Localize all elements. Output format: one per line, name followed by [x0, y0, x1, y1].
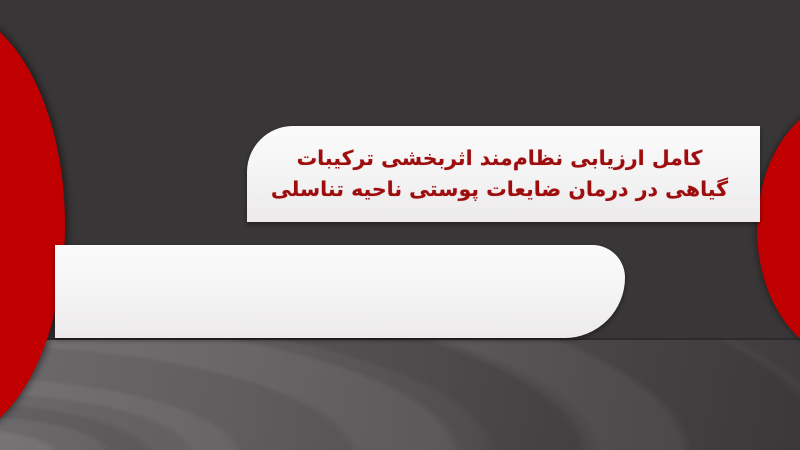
slide-title: کامل ارزیابی نظام‌مند اثربخشی ترکیبات گی… — [247, 143, 760, 205]
slide-subtitle — [55, 245, 625, 274]
presentation-slide: کامل ارزیابی نظام‌مند اثربخشی ترکیبات گی… — [0, 0, 800, 450]
slide-background-bottom-swirl — [0, 340, 800, 450]
title-panel: کامل ارزیابی نظام‌مند اثربخشی ترکیبات گی… — [247, 126, 760, 222]
slide-background-seam — [0, 338, 800, 340]
subtitle-panel — [55, 245, 625, 338]
